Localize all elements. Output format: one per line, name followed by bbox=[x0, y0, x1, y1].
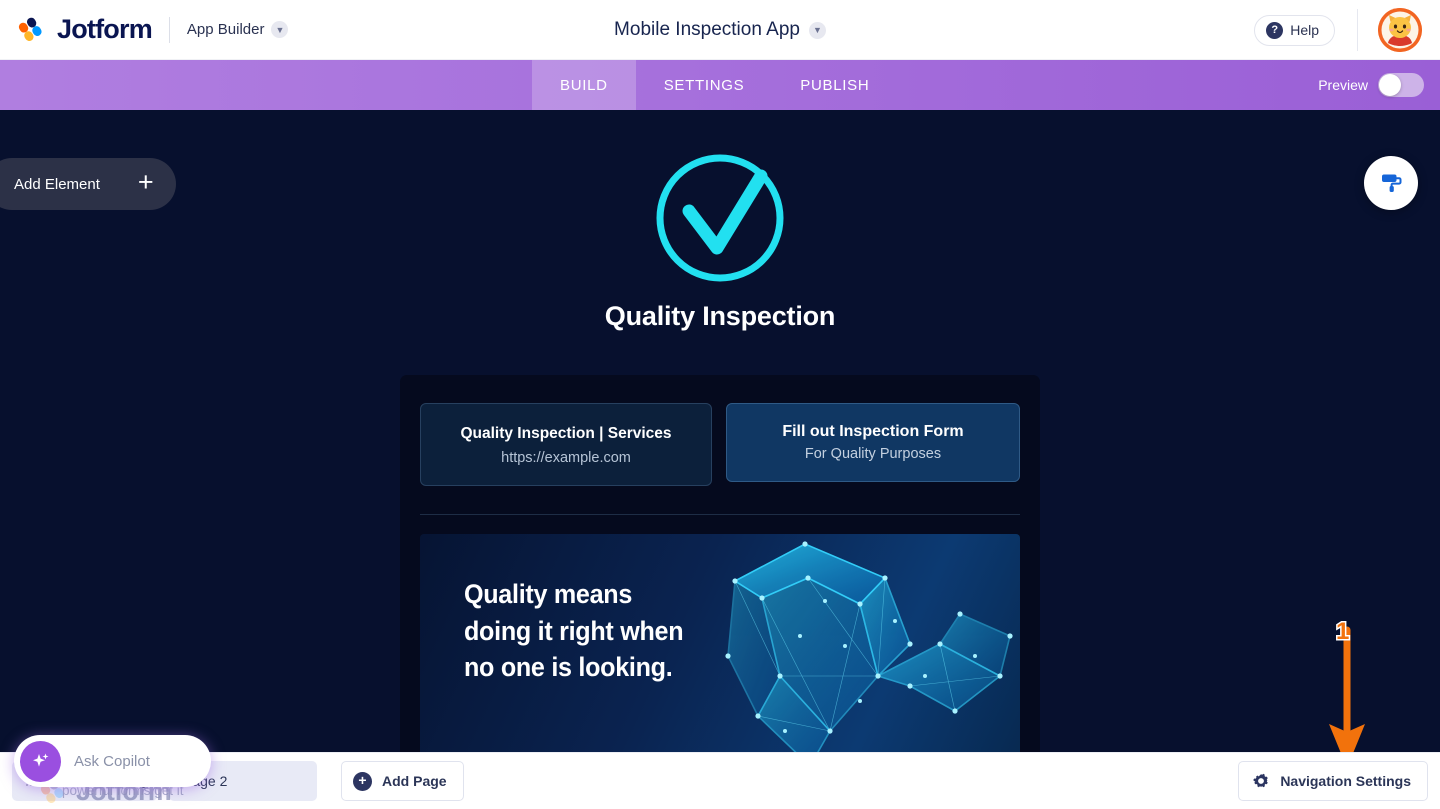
navigation-settings-label: Navigation Settings bbox=[1280, 773, 1411, 789]
link-title: Fill out Inspection Form bbox=[782, 423, 963, 441]
app-canvas: Add Element + Quality Inspection Q bbox=[0, 110, 1440, 752]
add-element-label: Add Element bbox=[14, 176, 100, 193]
theme-button[interactable] bbox=[1364, 156, 1418, 210]
avatar[interactable] bbox=[1378, 8, 1422, 52]
banner-quote: Quality means doing it right when no one… bbox=[464, 576, 683, 686]
bottom-bar: Jotform powerful forms get it Home Page … bbox=[0, 752, 1440, 809]
tab-settings[interactable]: SETTINGS bbox=[636, 60, 773, 110]
chevron-down-icon[interactable]: ▼ bbox=[809, 22, 826, 39]
header-right-group: ? Help bbox=[1254, 0, 1440, 60]
builder-tabs: BUILD SETTINGS PUBLISH bbox=[532, 60, 897, 110]
annotation-number: 1 bbox=[1336, 618, 1349, 646]
link-subtitle: For Quality Purposes bbox=[805, 446, 941, 462]
sparkle-icon bbox=[20, 741, 61, 782]
annotation-arrow bbox=[1320, 620, 1390, 752]
header-divider-2 bbox=[1357, 9, 1358, 51]
add-element-button[interactable]: Add Element + bbox=[0, 158, 176, 210]
jotform-logo-icon[interactable] bbox=[18, 15, 48, 45]
toggle-knob bbox=[1379, 74, 1401, 96]
help-label: Help bbox=[1290, 22, 1319, 38]
link-title: Quality Inspection | Services bbox=[460, 425, 671, 443]
app-builder-label: App Builder bbox=[187, 21, 265, 38]
app-content-card: Quality Inspection | Services https://ex… bbox=[400, 375, 1040, 752]
ask-copilot-label: Ask Copilot bbox=[74, 753, 150, 770]
tab-publish[interactable]: PUBLISH bbox=[772, 60, 897, 110]
question-mark-icon: ? bbox=[1266, 22, 1283, 39]
link-subtitle: https://example.com bbox=[501, 450, 631, 466]
link-card-services[interactable]: Quality Inspection | Services https://ex… bbox=[420, 403, 712, 486]
paint-roller-icon bbox=[1377, 169, 1405, 197]
app-builder-screen: Jotform App Builder ▼ Mobile Inspection … bbox=[0, 0, 1440, 809]
header-divider bbox=[169, 17, 170, 43]
wireframe-checkmark-icon bbox=[710, 534, 1020, 752]
page-title[interactable]: Mobile Inspection App bbox=[614, 19, 800, 41]
plus-circle-icon: + bbox=[353, 772, 372, 791]
link-card-inspection-form[interactable]: Fill out Inspection Form For Quality Pur… bbox=[726, 403, 1020, 482]
gear-icon bbox=[1252, 772, 1270, 790]
plus-icon: + bbox=[138, 169, 154, 196]
preview-toggle-group: Preview bbox=[1318, 60, 1424, 110]
builder-navbar: BUILD SETTINGS PUBLISH Preview bbox=[0, 60, 1440, 110]
banner-image[interactable]: Quality means doing it right when no one… bbox=[420, 534, 1020, 752]
add-page-label: Add Page bbox=[382, 773, 447, 789]
app-hero: Quality Inspection bbox=[0, 110, 1440, 332]
content-divider bbox=[420, 514, 1020, 515]
preview-toggle[interactable] bbox=[1378, 73, 1424, 97]
check-circle-icon bbox=[653, 148, 787, 287]
tab-build[interactable]: BUILD bbox=[532, 60, 636, 110]
help-button[interactable]: ? Help bbox=[1254, 15, 1335, 46]
header-left-group: Jotform App Builder ▼ bbox=[0, 14, 288, 45]
link-buttons-row: Quality Inspection | Services https://ex… bbox=[400, 375, 1040, 486]
add-page-button[interactable]: + Add Page bbox=[341, 761, 464, 801]
chevron-down-icon[interactable]: ▼ bbox=[271, 21, 288, 38]
ask-copilot-button[interactable]: Ask Copilot bbox=[14, 735, 211, 787]
preview-label: Preview bbox=[1318, 77, 1368, 93]
top-header: Jotform App Builder ▼ Mobile Inspection … bbox=[0, 0, 1440, 60]
brand-name: Jotform bbox=[57, 14, 152, 45]
navigation-settings-button[interactable]: Navigation Settings bbox=[1238, 761, 1428, 801]
hero-title: Quality Inspection bbox=[605, 301, 835, 332]
app-builder-menu[interactable]: App Builder ▼ bbox=[187, 21, 289, 38]
